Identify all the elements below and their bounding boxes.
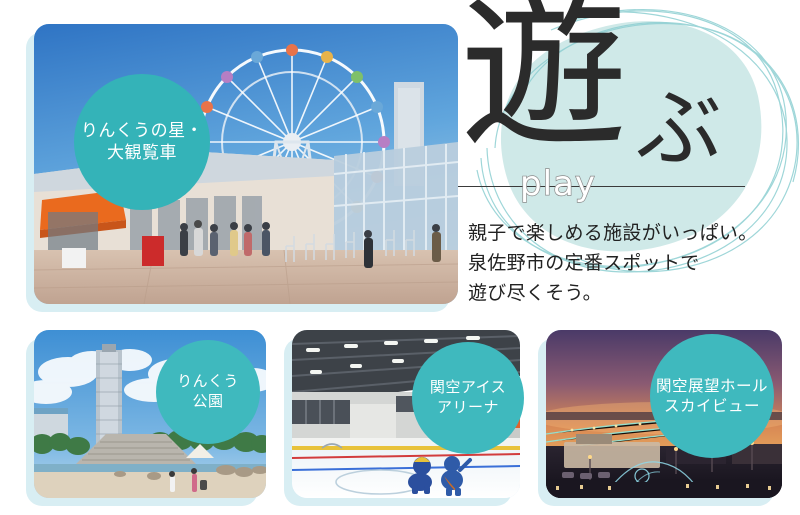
- title-kana: ぶ: [636, 86, 722, 172]
- lead-line-1: 親子で楽しめる施設がいっぱい。: [468, 218, 798, 248]
- lead-line-2: 泉佐野市の定番スポットで: [468, 248, 798, 278]
- badge-line-1: りんくう: [177, 372, 239, 392]
- badge-rinku-star-ferris-wheel[interactable]: りんくうの星・ 大観覧車: [74, 74, 210, 210]
- badge-line-1: 関空展望ホール: [656, 376, 768, 396]
- badge-line-2: 大観覧車: [107, 142, 177, 164]
- lead-paragraph: 親子で楽しめる施設がいっぱい。 泉佐野市の定番スポットで 遊び尽くそう。: [468, 218, 798, 308]
- badge-line-1: 関空アイス: [430, 378, 506, 398]
- badge-kanku-ice-arena[interactable]: 関空アイス アリーナ: [412, 342, 524, 454]
- badge-kanku-sky-view[interactable]: 関空展望ホール スカイビュー: [650, 334, 774, 458]
- title-kanji: 遊: [460, 0, 628, 156]
- badge-rinku-park[interactable]: りんくう 公園: [156, 340, 260, 444]
- title-romaji: play: [520, 164, 596, 204]
- card-rinku-star-ferris-wheel[interactable]: りんくうの星・ 大観覧車: [26, 32, 450, 312]
- badge-line-2: 公園: [192, 392, 223, 412]
- page-title: 遊 ぶ play: [440, 8, 800, 208]
- badge-line-2: スカイビュー: [664, 396, 760, 416]
- badge-line-1: りんくうの星・: [81, 120, 203, 142]
- badge-line-2: アリーナ: [437, 398, 499, 418]
- lead-line-3: 遊び尽くそう。: [468, 278, 798, 308]
